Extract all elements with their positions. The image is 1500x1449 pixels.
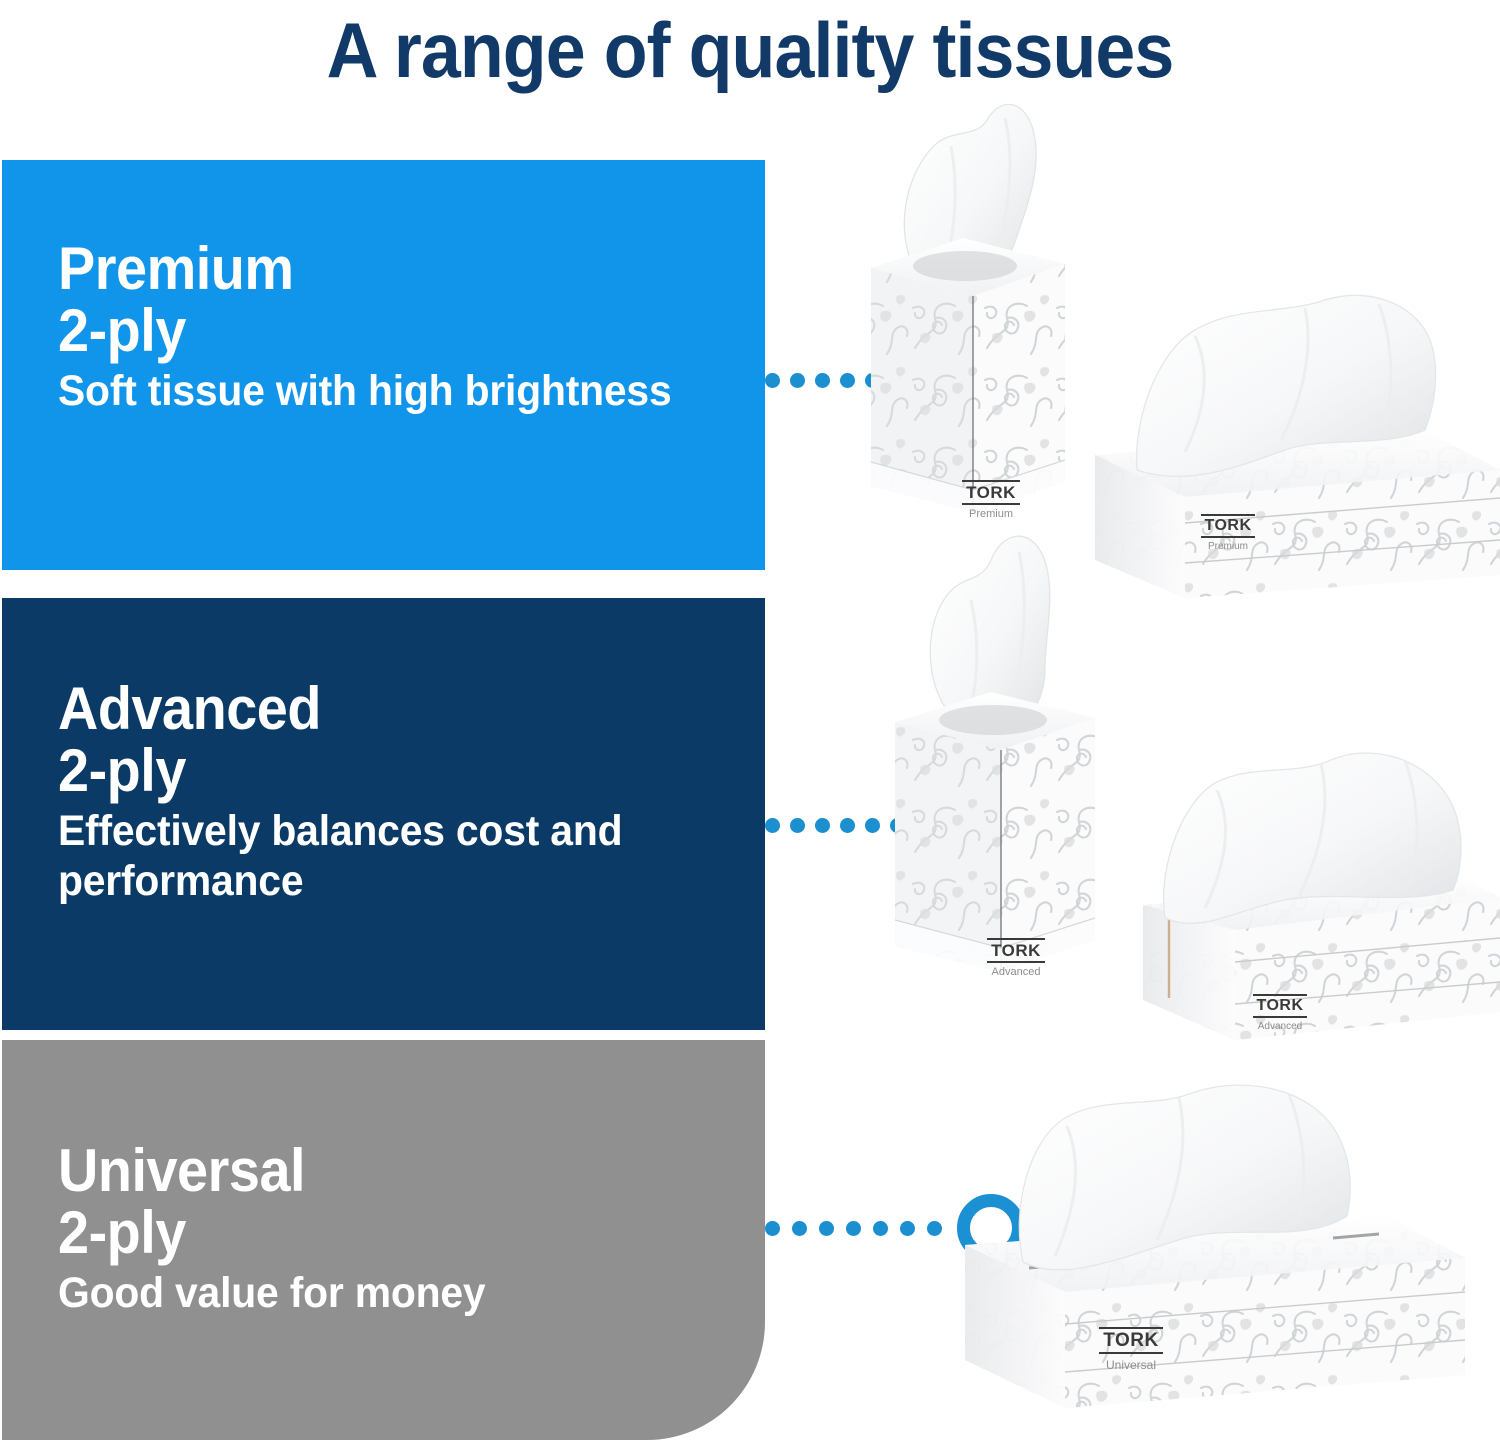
panel-universal-heading-line2: 2-ply <box>58 1199 186 1266</box>
tork-wordmark: TORK <box>973 942 1059 959</box>
tork-logo-rule <box>987 938 1045 940</box>
panel-premium-heading-line2: 2-ply <box>58 297 186 364</box>
panel-universal-subtext: Good value for money <box>58 1268 701 1318</box>
tork-wordmark: TORK <box>1185 518 1271 534</box>
panel-premium-heading: Premium2-ply <box>58 238 688 362</box>
panel-premium-subtext: Soft tissue with high brightness <box>58 366 701 416</box>
panel-premium: Premium2-ply Soft tissue with high brigh… <box>2 160 765 570</box>
panel-advanced-heading-line2: 2-ply <box>58 737 186 804</box>
tork-logo-universal-flat: TORK Universal <box>1083 1325 1179 1371</box>
panel-premium-heading-line1: Premium <box>58 235 294 302</box>
tork-variant-label: Advanced <box>973 967 1059 978</box>
tork-logo-rule <box>1201 536 1255 538</box>
product-photo-area: TORK Premium TORK Premium <box>765 0 1500 1449</box>
panel-advanced: Advanced2-ply Effectively balances cost … <box>2 598 765 1030</box>
panel-advanced-content: Advanced2-ply Effectively balances cost … <box>58 678 735 906</box>
tork-logo-rule <box>1099 1327 1163 1329</box>
tork-logo-rule <box>987 961 1045 963</box>
panel-universal-content: Universal2-ply Good value for money <box>58 1140 735 1318</box>
panel-premium-content: Premium2-ply Soft tissue with high brigh… <box>58 238 735 416</box>
tork-variant-label: Universal <box>1083 1359 1179 1371</box>
tork-logo-rule <box>1099 1352 1163 1354</box>
tork-logo-rule <box>1253 1016 1307 1018</box>
tork-logo-premium-cube: TORK Premium <box>948 478 1034 520</box>
tork-logo-advanced-flat: TORK Advanced <box>1237 992 1323 1032</box>
tork-logo-premium-flat: TORK Premium <box>1185 512 1271 552</box>
tork-logo-rule <box>1253 994 1307 996</box>
product-illustrations <box>765 0 1500 1449</box>
tork-variant-label: Premium <box>948 509 1034 520</box>
panel-universal: Universal2-ply Good value for money <box>2 1040 765 1440</box>
panel-advanced-heading: Advanced2-ply <box>58 678 688 802</box>
tork-variant-label: Advanced <box>1237 1022 1323 1032</box>
tork-wordmark: TORK <box>1237 998 1323 1014</box>
tork-logo-rule <box>962 503 1020 505</box>
tork-wordmark: TORK <box>1083 1331 1179 1350</box>
panel-universal-heading: Universal2-ply <box>58 1140 688 1264</box>
tork-logo-advanced-cube: TORK Advanced <box>973 936 1059 978</box>
tork-logo-rule <box>1201 514 1255 516</box>
tork-logo-rule <box>962 480 1020 482</box>
product-premium-flat-box <box>1095 295 1500 598</box>
panel-universal-heading-line1: Universal <box>58 1137 305 1204</box>
panel-advanced-subtext: Effectively balances cost and performanc… <box>58 806 701 906</box>
tork-variant-label: Premium <box>1185 542 1271 552</box>
tork-wordmark: TORK <box>948 484 1034 501</box>
product-premium-cube-box <box>871 104 1065 512</box>
panel-advanced-heading-line1: Advanced <box>58 675 321 742</box>
